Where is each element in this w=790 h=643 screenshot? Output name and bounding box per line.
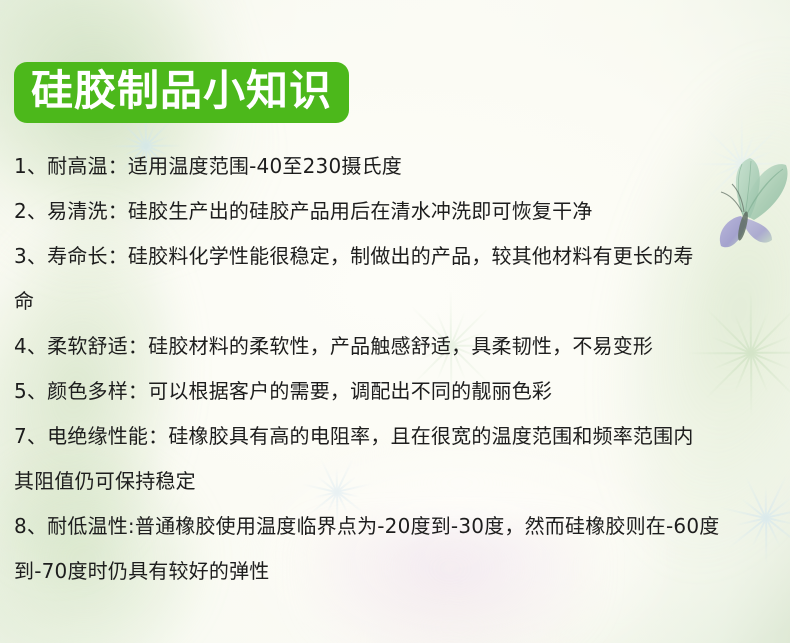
knowledge-item: 5、颜色多样：可以根据客户的需要，调配出不同的靓丽色彩 <box>14 369 786 414</box>
knowledge-item: 8、耐低温性:普通橡胶使用温度临界点为-20度到-30度，然而硅橡胶则在-60度 <box>14 504 786 549</box>
knowledge-item: 7、电绝缘性能：硅橡胶具有高的电阻率，且在很宽的温度范围和频率范围内 <box>14 414 786 459</box>
title-badge: 硅胶制品小知识 <box>14 62 349 123</box>
poster-canvas: 硅胶制品小知识 1、耐高温：适用温度范围-40至230摄氏度2、易清洗：硅胶生产… <box>0 0 790 643</box>
page-title: 硅胶制品小知识 <box>31 67 332 114</box>
knowledge-line-continuation: 其阻值仍可保持稳定 <box>14 459 786 504</box>
knowledge-item: 4、柔软舒适：硅胶材料的柔软性，产品触感舒适，具柔韧性，不易变形 <box>14 324 786 369</box>
knowledge-line-continuation: 命 <box>14 279 786 324</box>
knowledge-line-continuation: 到-70度时仍具有较好的弹性 <box>14 549 786 594</box>
knowledge-item: 2、易清洗：硅胶生产出的硅胶产品用后在清水冲洗即可恢复干净 <box>14 189 786 234</box>
knowledge-item: 3、寿命长：硅胶料化学性能很稳定，制做出的产品，较其他材料有更长的寿 <box>14 234 786 279</box>
knowledge-item: 1、耐高温：适用温度范围-40至230摄氏度 <box>14 144 786 189</box>
knowledge-list: 1、耐高温：适用温度范围-40至230摄氏度2、易清洗：硅胶生产出的硅胶产品用后… <box>14 144 786 594</box>
poster-content: 硅胶制品小知识 1、耐高温：适用温度范围-40至230摄氏度2、易清洗：硅胶生产… <box>0 0 790 643</box>
